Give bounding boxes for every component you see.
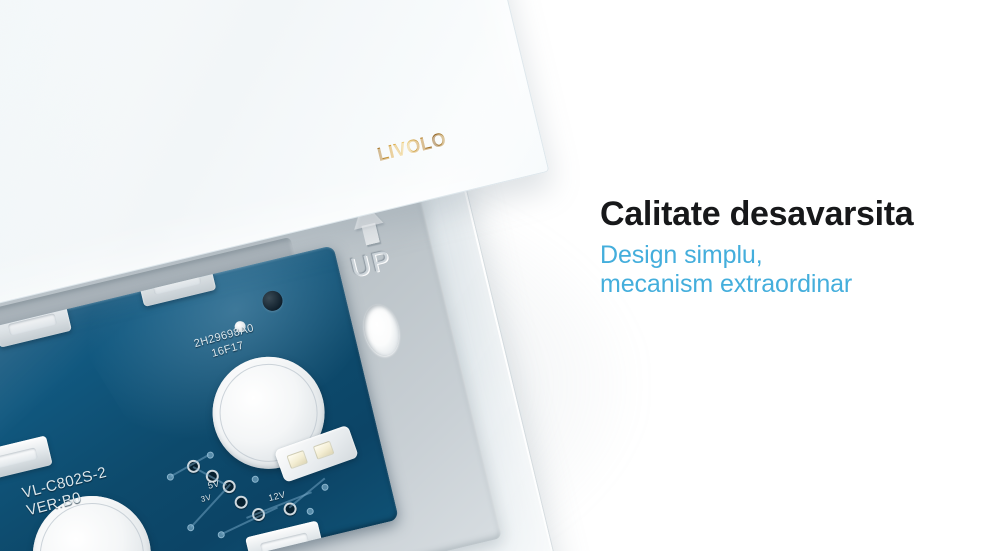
retaining-clip xyxy=(0,435,53,481)
page-title: Calitate desavarsita xyxy=(600,196,980,232)
page-subtitle: Design simplu, mecanism extraordinar xyxy=(600,241,980,299)
subtitle-line-1: Design simplu, xyxy=(600,241,980,270)
clip-tongue xyxy=(260,532,309,551)
marketing-copy: Calitate desavarsita Design simplu, meca… xyxy=(600,196,980,299)
arrow-stem xyxy=(362,223,380,246)
via-dot xyxy=(306,507,314,515)
silkscreen-code-block: 2H29698A0 16F17 xyxy=(193,321,260,365)
up-label-right: UP xyxy=(348,239,417,284)
retaining-clip xyxy=(245,520,324,551)
subtitle-line-2: mecanism extraordinar xyxy=(600,270,980,299)
screw-slot-right xyxy=(359,301,404,360)
silkscreen-rail-3v: 3V xyxy=(200,493,212,504)
clip-tongue xyxy=(0,447,38,470)
component-via-dark xyxy=(260,289,284,313)
copper-trace xyxy=(289,478,326,509)
brand-logo: LIVOLO xyxy=(375,128,448,166)
product-banner: UP UP xyxy=(0,0,1000,551)
via-dot xyxy=(321,483,329,491)
led-indicator-2 xyxy=(313,441,335,460)
led-indicator-1 xyxy=(286,450,308,469)
via-dot xyxy=(251,475,259,483)
silkscreen-rail-5v: 5V xyxy=(207,478,221,490)
through-hole xyxy=(233,494,249,510)
